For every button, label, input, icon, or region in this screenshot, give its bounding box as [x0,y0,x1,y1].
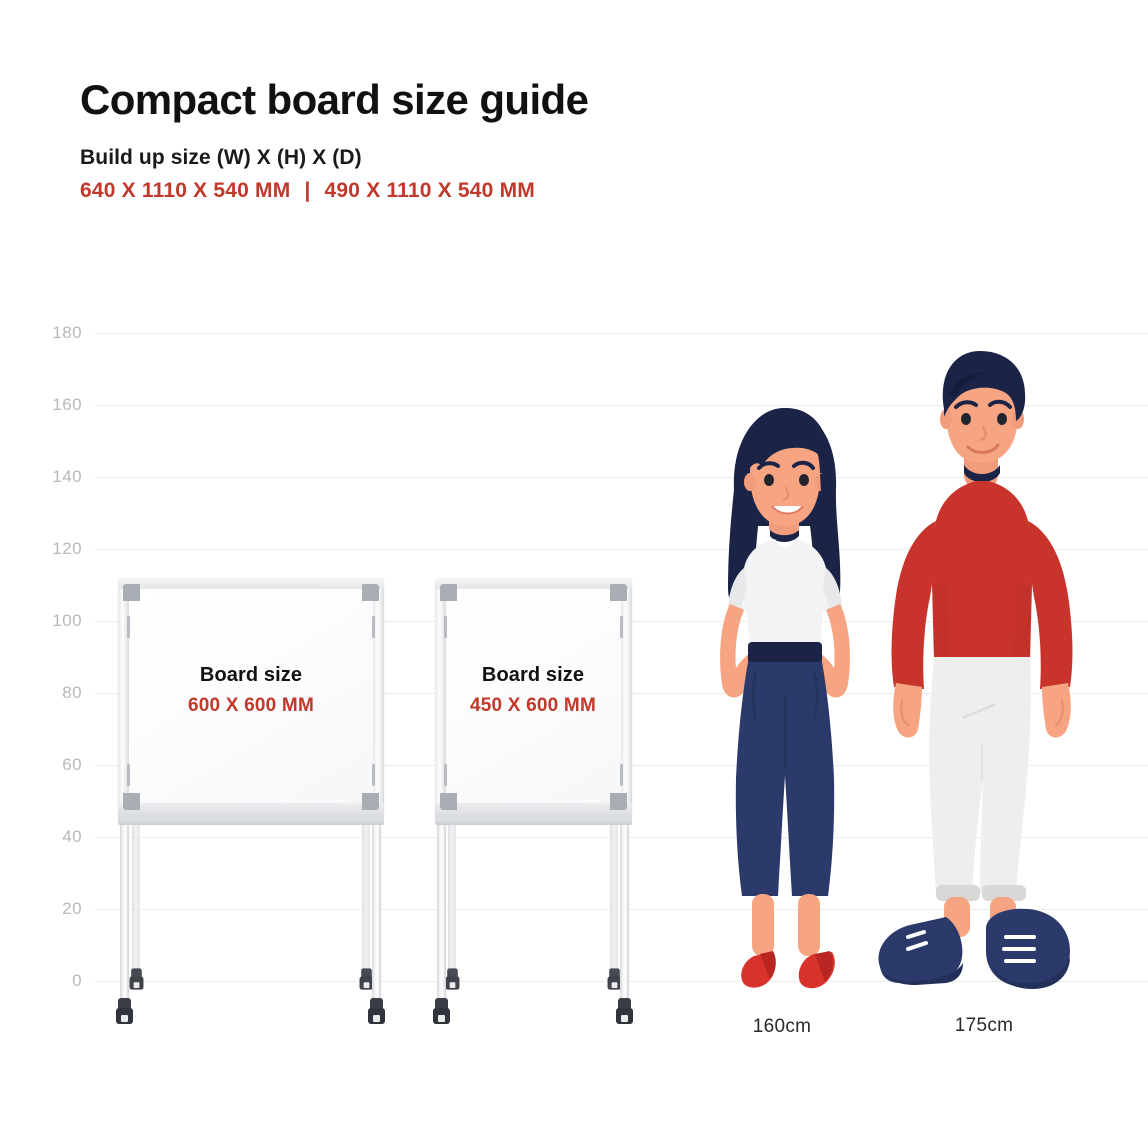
caster-front-left [116,998,133,1024]
board-large-caption: Board size 600 X 600 MM [110,664,392,717]
marker-tray [118,818,384,825]
frame-clip-lower-left [127,764,130,786]
y-tick-0: 0 [22,971,82,991]
y-tick-160: 160 [22,395,82,415]
caster-front-right [616,998,633,1024]
caster-front-left [433,998,450,1024]
whiteboard-small[interactable]: Board size 450 X 600 MM [428,578,638,1028]
frame-top-rail [435,578,632,589]
figure-woman: 160cm [672,396,892,1010]
corner-bracket-bottom-left [123,793,140,810]
frame-clip-lower-right [372,764,375,786]
frame-bottom-rail [435,803,632,818]
frame-bottom-rail [118,803,384,818]
y-tick-40: 40 [22,827,82,847]
frame-top-rail [118,578,384,589]
height-label-woman: 160cm [712,1016,852,1038]
y-tick-100: 100 [22,611,82,631]
corner-bracket-top-right [610,584,627,601]
frame-clip-lower-left [444,764,447,786]
caster-back-left [130,968,144,989]
board-large-caption-size: 600 X 600 MM [110,695,392,717]
height-label-man: 175cm [914,1015,1054,1037]
corner-bracket-bottom-right [362,793,379,810]
y-tick-60: 60 [22,755,82,775]
board-small-caption: Board size 450 X 600 MM [428,664,638,717]
corner-bracket-top-left [440,584,457,601]
gridline-180 [95,333,1148,334]
frame-clip-lower-right [620,764,623,786]
board-small-caption-title: Board size [428,664,638,687]
chart-area: 180 160 140 120 100 80 60 40 20 0 [0,0,1148,1139]
corner-bracket-bottom-left [440,793,457,810]
board-large-caption-title: Board size [110,664,392,687]
frame-clip-upper-left [127,616,130,638]
corner-bracket-top-left [123,584,140,601]
caster-back-left [446,968,460,989]
y-tick-80: 80 [22,683,82,703]
corner-bracket-top-right [362,584,379,601]
y-tick-140: 140 [22,467,82,487]
corner-bracket-bottom-right [610,793,627,810]
board-small-caption-size: 450 X 600 MM [428,695,638,717]
figure-man: 175cm [864,345,1096,1013]
frame-clip-upper-right [372,616,375,638]
caster-front-right [368,998,385,1024]
frame-clip-upper-left [444,616,447,638]
whiteboard-large[interactable]: Board size 600 X 600 MM [110,578,392,1028]
y-tick-180: 180 [22,323,82,343]
frame-clip-upper-right [620,616,623,638]
y-tick-120: 120 [22,539,82,559]
marker-tray [435,818,632,825]
size-guide-infographic: Compact board size guide Build up size (… [0,0,1148,1139]
y-tick-20: 20 [22,899,82,919]
